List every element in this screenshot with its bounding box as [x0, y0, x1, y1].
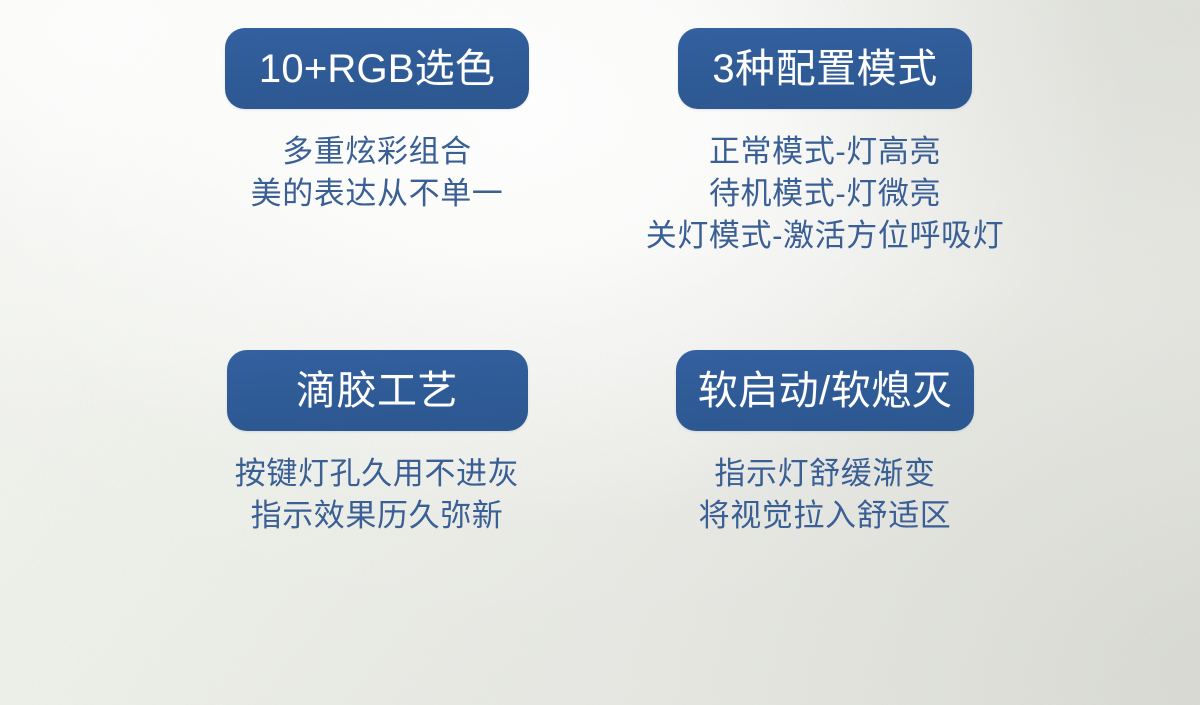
feature-description-soft-start-soft-off: 指示灯舒缓渐变 将视觉拉入舒适区: [699, 453, 952, 537]
feature-description-line: 多重炫彩组合: [251, 131, 504, 173]
feature-description-line: 正常模式-灯高亮: [646, 131, 1005, 173]
feature-card-rgb-color-selection: 10+RGB选色 多重炫彩组合 美的表达从不单一: [146, 28, 608, 215]
feature-card-three-config-modes: 3种配置模式 正常模式-灯高亮 待机模式-灯微亮 关灯模式-激活方位呼吸灯: [594, 28, 1056, 257]
feature-grid: 10+RGB选色 多重炫彩组合 美的表达从不单一 3种配置模式 正常模式-灯高亮…: [0, 0, 1200, 705]
feature-badge-rgb-color-selection: 10+RGB选色: [225, 28, 529, 109]
feature-description-line: 关灯模式-激活方位呼吸灯: [646, 215, 1005, 257]
feature-badge-label: 10+RGB选色: [259, 49, 495, 89]
feature-description-resin-craft: 按键灯孔久用不进灰 指示效果历久弥新: [235, 453, 519, 537]
poster-canvas: 10+RGB选色 多重炫彩组合 美的表达从不单一 3种配置模式 正常模式-灯高亮…: [0, 0, 1200, 705]
feature-description-line: 指示灯舒缓渐变: [699, 453, 952, 495]
feature-badge-label: 软启动/软熄灭: [698, 371, 953, 411]
feature-description-rgb-color-selection: 多重炫彩组合 美的表达从不单一: [251, 131, 504, 215]
feature-description-line: 按键灯孔久用不进灰: [235, 453, 519, 495]
feature-card-resin-craft: 滴胶工艺 按键灯孔久用不进灰 指示效果历久弥新: [146, 350, 608, 537]
feature-badge-three-config-modes: 3种配置模式: [678, 28, 971, 109]
feature-card-soft-start-soft-off: 软启动/软熄灭 指示灯舒缓渐变 将视觉拉入舒适区: [594, 350, 1056, 537]
feature-badge-label: 滴胶工艺: [296, 371, 458, 411]
feature-description-line: 美的表达从不单一: [251, 173, 504, 215]
feature-badge-resin-craft: 滴胶工艺: [227, 350, 528, 431]
feature-description-line: 待机模式-灯微亮: [646, 173, 1005, 215]
feature-description-line: 指示效果历久弥新: [235, 495, 519, 537]
feature-badge-label: 3种配置模式: [712, 49, 937, 89]
feature-description-three-config-modes: 正常模式-灯高亮 待机模式-灯微亮 关灯模式-激活方位呼吸灯: [646, 131, 1005, 257]
feature-description-line: 将视觉拉入舒适区: [699, 495, 952, 537]
feature-badge-soft-start-soft-off: 软启动/软熄灭: [676, 350, 975, 431]
